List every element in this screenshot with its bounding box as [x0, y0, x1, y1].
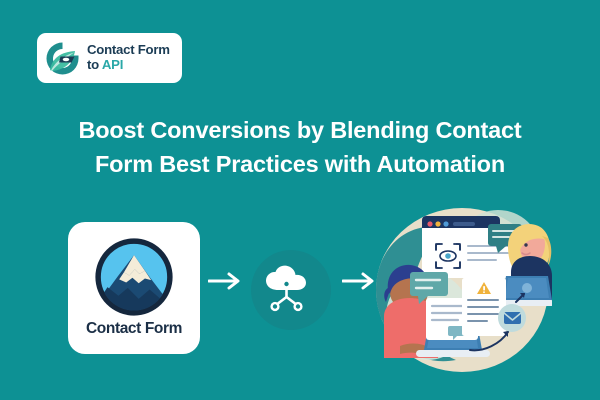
- logo-line-1: Contact Form: [87, 43, 170, 58]
- brand-logo-badge[interactable]: Contact Form to API: [37, 33, 182, 83]
- headline-line-2: Form Best Practices with Automation: [50, 148, 550, 182]
- flow-diagram: Contact Form: [0, 196, 600, 386]
- blog-banner: Contact Form to API Boost Conversions by…: [0, 0, 600, 400]
- contact-form-source-card: Contact Form: [68, 222, 200, 354]
- page-title: Boost Conversions by Blending Contact Fo…: [50, 114, 550, 182]
- cloud-network-node: [251, 250, 331, 330]
- team-collaboration-illustration: [366, 198, 552, 376]
- eye-scan-icon: [434, 242, 462, 270]
- logo-to-text: to: [87, 57, 102, 72]
- logo-line-2: to API: [87, 58, 170, 73]
- contact-form-to-api-logo-mark: [44, 40, 81, 77]
- brand-wordmark: Contact Form to API: [87, 43, 170, 73]
- envelope-icon: [498, 304, 526, 332]
- logo-api-text: API: [102, 57, 123, 72]
- contact-form-mountain-logo: [95, 238, 173, 316]
- headline-line-1: Boost Conversions by Blending Contact: [50, 114, 550, 148]
- document-warning-card: [462, 278, 506, 336]
- contact-form-label: Contact Form: [68, 320, 200, 338]
- arrow-right-icon: [208, 270, 242, 292]
- cloud-network-icon: [264, 265, 318, 315]
